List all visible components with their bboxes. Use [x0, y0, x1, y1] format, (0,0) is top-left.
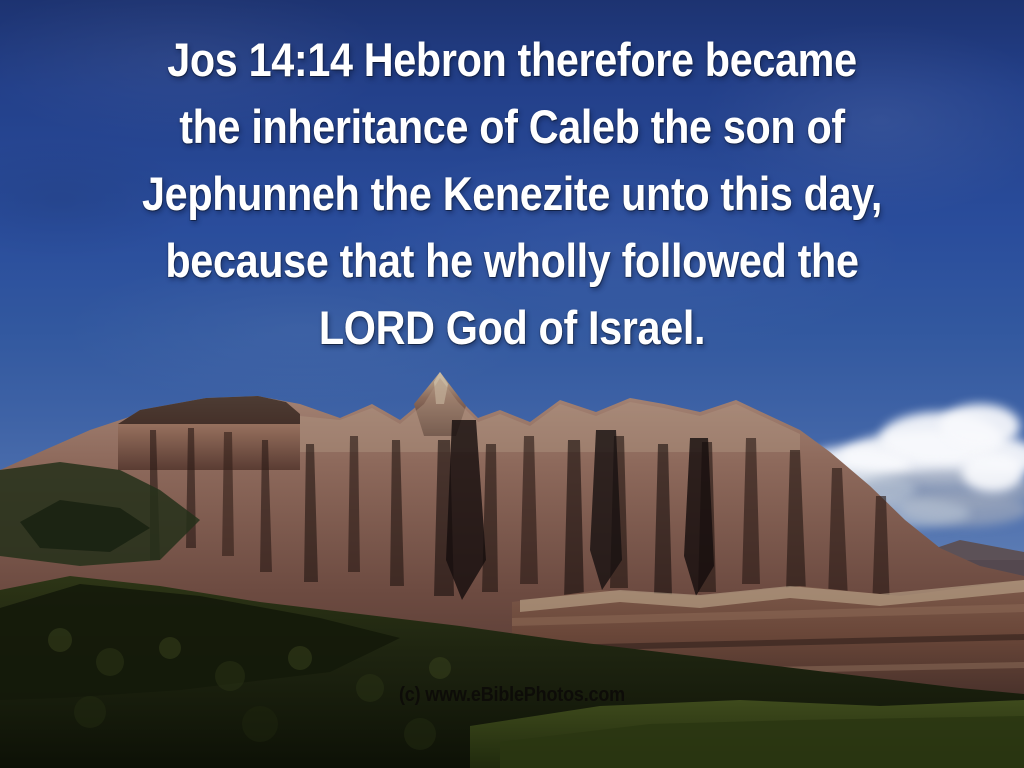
bible-verse-text: Jos 14:14 Hebron therefore became the in… [61, 26, 962, 361]
verse-photo-canvas: Jos 14:14 Hebron therefore became the in… [0, 0, 1024, 768]
watermark-credit: (c) www.eBiblePhotos.com [51, 685, 973, 705]
